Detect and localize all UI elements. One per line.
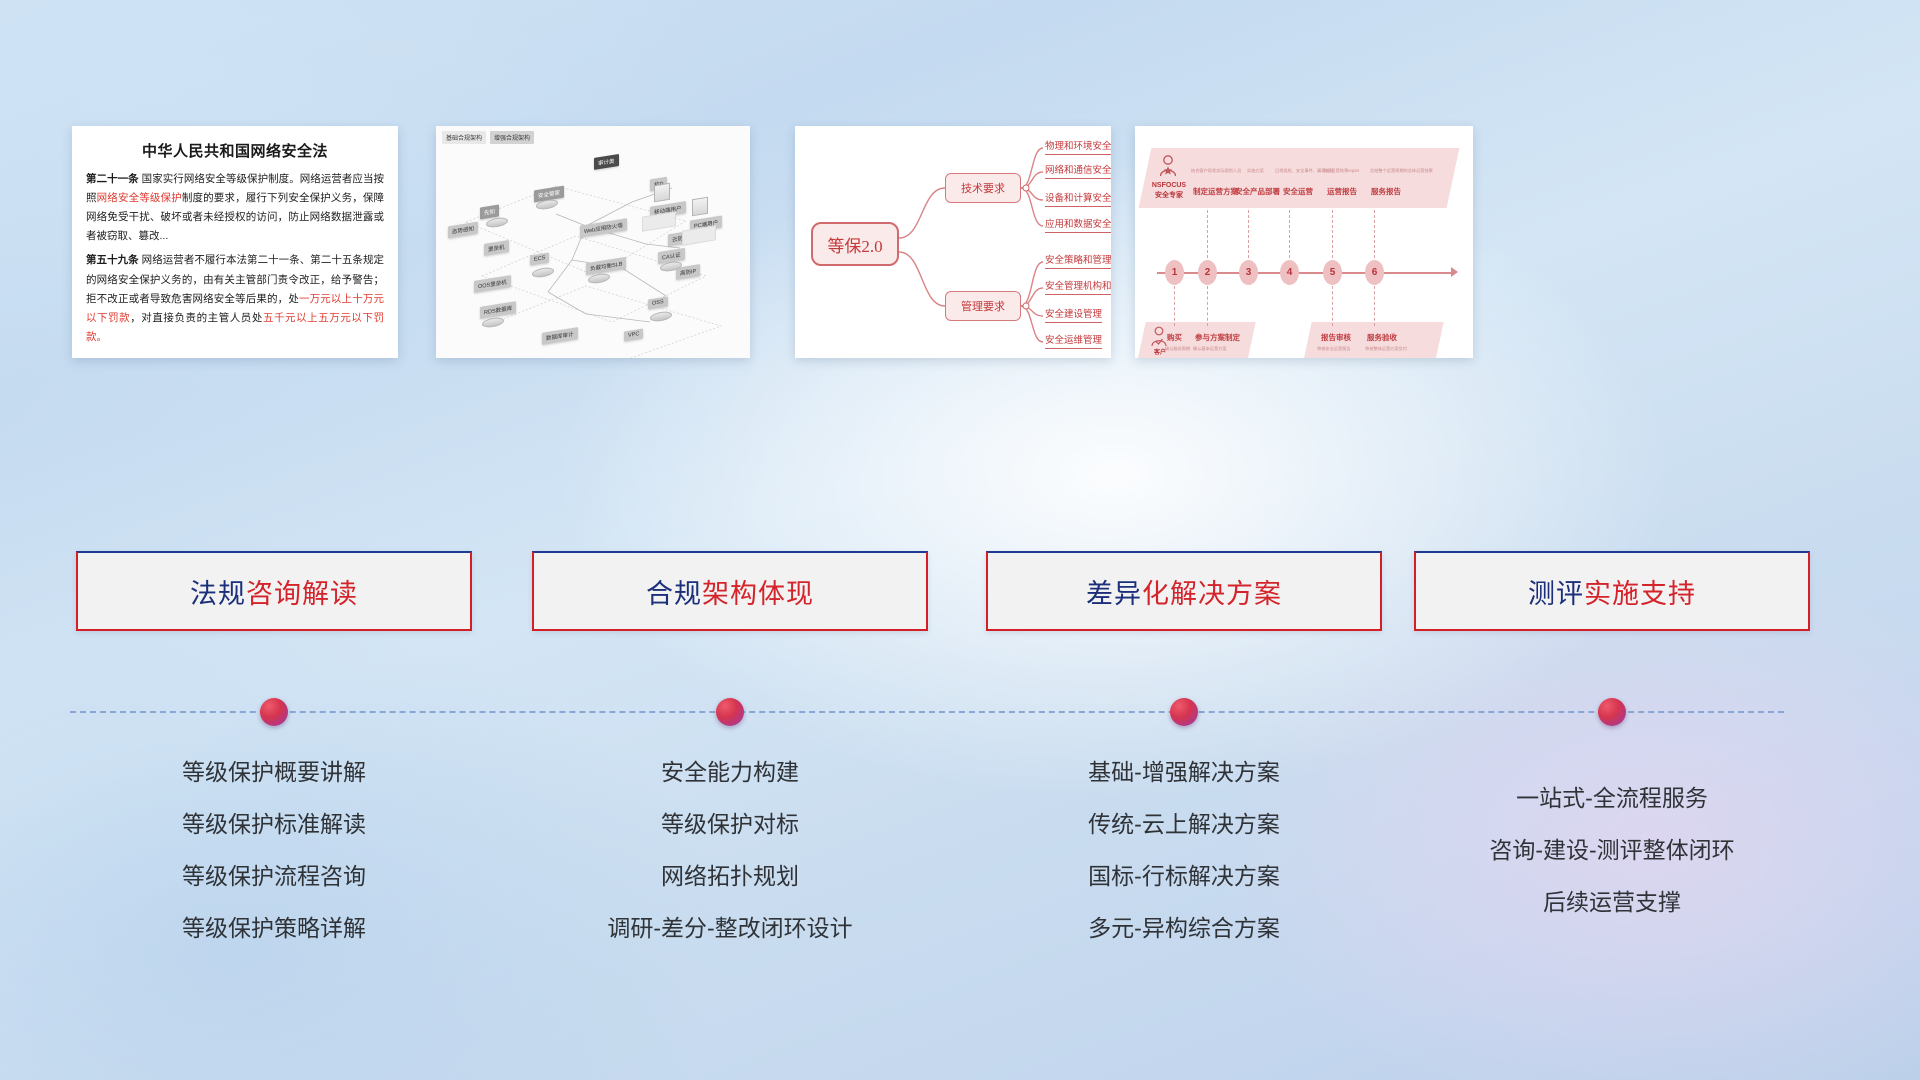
step-label-4: 安全运营 bbox=[1283, 186, 1313, 197]
connector-dash-b1 bbox=[1174, 286, 1175, 326]
list-item: 等级保护对标 bbox=[532, 798, 928, 850]
step-marker-1: 1 bbox=[1165, 260, 1184, 285]
mindmap-branch-management: 管理要求 bbox=[945, 291, 1021, 321]
step-marker-4: 4 bbox=[1280, 260, 1299, 285]
section-title-3: 差异化解决方案 bbox=[1086, 572, 1282, 611]
timeline-row bbox=[0, 690, 1920, 734]
step-label-5: 运营报告 bbox=[1327, 186, 1357, 197]
list-item: 调研-差分-整改闭环设计 bbox=[532, 902, 928, 954]
mindmap-root-node: 等保2.0 bbox=[811, 222, 899, 266]
step-marker-5: 5 bbox=[1323, 260, 1342, 285]
step-label-6: 服务报告 bbox=[1371, 186, 1401, 197]
mindmap-leaf-app-data: 应用和数据安全 bbox=[1045, 216, 1111, 233]
article-21-highlight: 网络安全等级保护 bbox=[97, 192, 182, 204]
step-sub-3: 实施方案 bbox=[1247, 168, 1264, 174]
list-item: 一站式-全流程服务 bbox=[1414, 772, 1810, 824]
bottom-label-report-review: 报告审核 bbox=[1321, 332, 1351, 343]
law-article-21: 第二十一条 国家实行网络安全等级保护制度。网络运营者应当按照网络安全等级保护制度… bbox=[86, 170, 384, 246]
service-list-2: 安全能力构建 等级保护对标 网络拓扑规划 调研-差分-整改闭环设计 bbox=[532, 746, 928, 954]
service-list-1: 等级保护概要讲解 等级保护标准解读 等级保护流程咨询 等级保护策略详解 bbox=[76, 746, 472, 954]
connector-dash-b3 bbox=[1332, 286, 1333, 326]
article-21-label: 第二十一条 bbox=[86, 173, 139, 185]
mindmap-leaf-operation-mgmt: 安全运维管理 bbox=[1045, 332, 1102, 349]
article-59-label: 第五十九条 bbox=[86, 254, 139, 266]
section-title-4: 测评实施支持 bbox=[1528, 572, 1696, 611]
mindmap-leaf-physical-env: 物理和环境安全 bbox=[1045, 138, 1111, 155]
connector-dash-b4 bbox=[1374, 286, 1375, 326]
mindmap-leaf-construction-mgmt: 安全建设管理 bbox=[1045, 306, 1102, 323]
connector-dash-3 bbox=[1248, 210, 1249, 258]
section-title-box-4[interactable]: 测评实施支持 bbox=[1414, 551, 1810, 631]
connector-dash-4 bbox=[1289, 210, 1290, 258]
bottom-label-participate: 参与方案制定 bbox=[1195, 332, 1240, 343]
section-title-4-red: 实施支持 bbox=[1584, 579, 1696, 609]
mindmap-leaf-network-comm: 网络和通信安全 bbox=[1045, 162, 1111, 179]
section-title-1-red: 咨询解读 bbox=[246, 579, 358, 609]
connector-dash-5 bbox=[1332, 210, 1333, 258]
list-item: 等级保护策略详解 bbox=[76, 902, 472, 954]
list-item: 多元-异构综合方案 bbox=[986, 902, 1382, 954]
preview-cards-row: 中华人民共和国网络安全法 第二十一条 国家实行网络安全等级保护制度。网络运营者应… bbox=[0, 126, 1920, 358]
section-title-box-3[interactable]: 差异化解决方案 bbox=[986, 551, 1382, 631]
list-item: 传统-云上解决方案 bbox=[986, 798, 1382, 850]
mindmap-leaf-org-personnel: 安全管理机构和人员 bbox=[1045, 278, 1111, 295]
nsfocus-diagram: NSFOCUS 安全专家 客户 1 2 3 4 5 6 bbox=[1135, 126, 1473, 358]
section-title-2-blue: 合规 bbox=[646, 579, 702, 609]
step-marker-2: 2 bbox=[1198, 260, 1217, 285]
mindmap-leaf-device-compute: 设备和计算安全 bbox=[1045, 190, 1111, 207]
bottom-label-acceptance: 服务验收 bbox=[1367, 332, 1397, 343]
card-nsfocus-service-timeline[interactable]: NSFOCUS 安全专家 客户 1 2 3 4 5 6 bbox=[1135, 126, 1473, 358]
section-title-1: 法规咨询解读 bbox=[190, 572, 358, 611]
timeline-dashed-line bbox=[70, 711, 1784, 713]
list-item: 基础-增强解决方案 bbox=[986, 746, 1382, 798]
bottom-sub-purchase: 确认服务周期 bbox=[1165, 346, 1190, 352]
section-title-2-red: 架构体现 bbox=[702, 579, 814, 609]
mindmap-leaf-policy-system: 安全策略和管理制度 bbox=[1045, 252, 1111, 269]
section-title-1-blue: 法规 bbox=[190, 579, 246, 609]
list-item: 网络拓扑规划 bbox=[532, 850, 928, 902]
step-marker-6: 6 bbox=[1365, 260, 1384, 285]
bottom-sub-acceptance: 审核整体运营方案交付 bbox=[1365, 346, 1407, 352]
brand-name-line1: NSFOCUS bbox=[1143, 182, 1195, 191]
step-sub-2: 结合客户现状实际规划人员 bbox=[1191, 168, 1241, 174]
law-document: 中华人民共和国网络安全法 第二十一条 国家实行网络安全等级保护制度。网络运营者应… bbox=[72, 126, 398, 358]
list-item: 咨询-建设-测评整体闭环 bbox=[1414, 824, 1810, 876]
connector-dash-b2 bbox=[1207, 286, 1208, 326]
service-list-4: 一站式-全流程服务 咨询-建设-测评整体闭环 后续运营支撑 bbox=[1414, 772, 1810, 928]
list-item: 等级保护流程咨询 bbox=[76, 850, 472, 902]
section-titles-row: 法规咨询解读 合规架构体现 差异化解决方案 测评实施支持 bbox=[0, 551, 1920, 631]
list-item: 等级保护标准解读 bbox=[76, 798, 472, 850]
bottom-sub-participate: 确认基本运营方案 bbox=[1193, 346, 1227, 352]
box-shape-2 bbox=[692, 197, 708, 217]
timeline-dot-4[interactable] bbox=[1598, 698, 1626, 726]
architecture-diagram: 基础合规架构 增强合规架构 bbox=[436, 126, 750, 358]
list-item: 安全能力构建 bbox=[532, 746, 928, 798]
step-label-2: 制定运营方案 bbox=[1193, 186, 1238, 197]
timeline-arrow-icon bbox=[1451, 267, 1458, 277]
card-mindmap-dengbao[interactable]: 等保2.0 技术要求 管理要求 物理和环境安全 网络和通信安全 设备和计算安全 … bbox=[795, 126, 1111, 358]
list-item: 国标-行标解决方案 bbox=[986, 850, 1382, 902]
connector-dash-6 bbox=[1374, 210, 1375, 258]
mindmap-diagram: 等保2.0 技术要求 管理要求 物理和环境安全 网络和通信安全 设备和计算安全 … bbox=[795, 126, 1111, 358]
section-title-box-2[interactable]: 合规架构体现 bbox=[532, 551, 928, 631]
law-article-59: 第五十九条 网络运营者不履行本法第二十一条、第二十五条规定的网络安全保护义务的，… bbox=[86, 251, 384, 347]
slide-canvas: 中华人民共和国网络安全法 第二十一条 国家实行网络安全等级保护制度。网络运营者应… bbox=[0, 0, 1920, 1080]
timeline-dot-3[interactable] bbox=[1170, 698, 1198, 726]
section-title-2: 合规架构体现 bbox=[646, 572, 814, 611]
connector-dash-2 bbox=[1207, 210, 1208, 258]
brand-name-line2: 安全专家 bbox=[1143, 192, 1195, 201]
mindmap-branch-technical: 技术要求 bbox=[945, 173, 1021, 203]
section-title-4-blue: 测评 bbox=[1528, 579, 1584, 609]
step-sub-5: 阶段运营效果report bbox=[1323, 168, 1359, 174]
step-marker-3: 3 bbox=[1239, 260, 1258, 285]
card-cloud-architecture[interactable]: 基础合规架构 增强合规架构 bbox=[436, 126, 750, 358]
section-title-3-red: 化解决方案 bbox=[1142, 579, 1282, 609]
step-sub-6: 总结整个运营周期的总体运营效果 bbox=[1370, 168, 1433, 174]
section-title-3-blue: 差异 bbox=[1086, 579, 1142, 609]
card-cybersecurity-law[interactable]: 中华人民共和国网络安全法 第二十一条 国家实行网络安全等级保护制度。网络运营者应… bbox=[72, 126, 398, 358]
section-title-box-1[interactable]: 法规咨询解读 bbox=[76, 551, 472, 631]
service-list-3: 基础-增强解决方案 传统-云上解决方案 国标-行标解决方案 多元-异构综合方案 bbox=[986, 746, 1382, 954]
step-label-3: 安全产品部署 bbox=[1235, 186, 1280, 197]
law-title: 中华人民共和国网络安全法 bbox=[86, 140, 384, 161]
bottom-sub-report-review: 审核安全运营报告 bbox=[1317, 346, 1351, 352]
timeline-dot-1[interactable] bbox=[260, 698, 288, 726]
box-shape-1 bbox=[654, 183, 670, 203]
list-item: 后续运营支撑 bbox=[1414, 876, 1810, 928]
timeline-dot-2[interactable] bbox=[716, 698, 744, 726]
article-59-text-b: ，对直接负责的主管人员处 bbox=[130, 312, 263, 324]
bottom-label-purchase: 购买 bbox=[1167, 332, 1182, 343]
expert-avatar-icon bbox=[1157, 154, 1179, 180]
list-item: 等级保护概要讲解 bbox=[76, 746, 472, 798]
